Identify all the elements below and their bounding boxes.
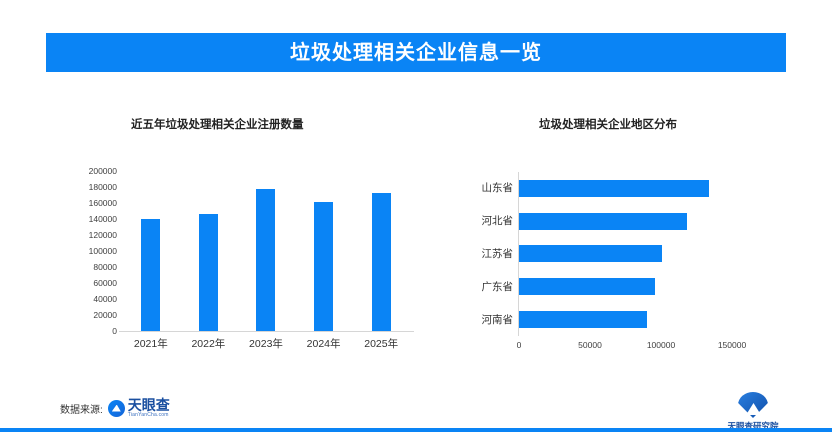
institute-logo: 天眼查研究院 — [718, 392, 788, 432]
bar-河北省[interactable] — [519, 213, 687, 230]
right-chart-plot-area — [519, 172, 759, 336]
tianyancha-brand-domain: TianYanCha.com — [128, 413, 170, 418]
infographic-page: 垃圾处理相关企业信息一览 近五年垃圾处理相关企业注册数量 02000040000… — [0, 0, 832, 448]
tianyancha-brand-name: 天眼查 — [128, 398, 170, 412]
y-axis-tick-label: 160000 — [60, 199, 117, 207]
right-chart-title: 垃圾处理相关企业地区分布 — [539, 116, 677, 132]
page-title: 垃圾处理相关企业信息一览 — [290, 43, 542, 63]
bar-2024年[interactable] — [314, 202, 333, 331]
x-axis-tick-label: 2024年 — [295, 336, 353, 351]
data-source: 数据来源: 天眼查 TianYanCha.com — [60, 398, 170, 418]
left-chart-plot-area — [122, 171, 410, 331]
x-axis-tick-label: 150000 — [718, 340, 746, 350]
bar-slot — [295, 171, 353, 331]
tianyancha-logo: 天眼查 TianYanCha.com — [108, 398, 170, 418]
category-label-山东省: 山东省 — [455, 183, 513, 193]
y-axis-tick-label: 80000 — [60, 263, 117, 271]
category-label-河北省: 河北省 — [455, 216, 513, 226]
y-axis-tick-label: 180000 — [60, 183, 117, 191]
bar-slot — [519, 238, 759, 271]
bar-slot — [519, 205, 759, 238]
institute-eagle-icon — [738, 392, 768, 418]
bar-2021年[interactable] — [141, 219, 160, 331]
left-chart-title: 近五年垃圾处理相关企业注册数量 — [131, 116, 304, 132]
tianyancha-eagle-icon — [108, 400, 125, 417]
x-axis-tick-label: 2025年 — [352, 336, 410, 351]
registrations-by-year-chart: 0200004000060000800001000001200001400001… — [60, 160, 420, 350]
category-label-江苏省: 江苏省 — [455, 249, 513, 259]
y-axis-tick-label: 200000 — [60, 167, 117, 175]
y-axis-tick-label: 0 — [60, 327, 117, 335]
tianyancha-wordmark: 天眼查 TianYanCha.com — [128, 398, 170, 418]
bar-2025年[interactable] — [372, 193, 391, 331]
footer-rule — [0, 428, 832, 432]
x-axis-tick-label: 100000 — [647, 340, 675, 350]
left-chart-baseline — [119, 331, 414, 332]
y-axis-tick-label: 140000 — [60, 215, 117, 223]
bar-2022年[interactable] — [199, 214, 218, 331]
right-chart-category-axis: 山东省河北省江苏省广东省河南省 — [455, 172, 513, 335]
bar-slot — [122, 171, 180, 331]
data-source-label: 数据来源: — [60, 401, 103, 416]
right-chart-x-axis: 050000100000150000 — [519, 340, 779, 354]
distribution-by-region-chart: 山东省河北省江苏省广东省河南省 050000100000150000 — [455, 160, 795, 355]
bar-江苏省[interactable] — [519, 245, 662, 262]
bar-slot — [519, 172, 759, 205]
category-label-河南省: 河南省 — [455, 315, 513, 325]
bar-slot — [180, 171, 238, 331]
x-axis-tick-label: 50000 — [578, 340, 602, 350]
left-chart-y-axis: 0200004000060000800001000001200001400001… — [60, 160, 117, 335]
bar-slot — [352, 171, 410, 331]
x-axis-tick-label: 2022年 — [180, 336, 238, 351]
y-axis-tick-label: 40000 — [60, 295, 117, 303]
bar-slot — [519, 270, 759, 303]
bar-slot — [519, 303, 759, 336]
category-label-广东省: 广东省 — [455, 282, 513, 292]
bar-河南省[interactable] — [519, 311, 647, 328]
x-axis-tick-label: 2021年 — [122, 336, 180, 351]
y-axis-tick-label: 20000 — [60, 311, 117, 319]
y-axis-tick-label: 120000 — [60, 231, 117, 239]
x-axis-tick-label: 0 — [517, 340, 522, 350]
y-axis-tick-label: 100000 — [60, 247, 117, 255]
x-axis-tick-label: 2023年 — [237, 336, 295, 351]
bar-2023年[interactable] — [256, 189, 275, 331]
bar-slot — [237, 171, 295, 331]
y-axis-tick-label: 60000 — [60, 279, 117, 287]
bar-广东省[interactable] — [519, 278, 655, 295]
left-chart-x-axis: 2021年2022年2023年2024年2025年 — [122, 336, 410, 356]
bar-山东省[interactable] — [519, 180, 709, 197]
title-banner: 垃圾处理相关企业信息一览 — [46, 33, 786, 72]
